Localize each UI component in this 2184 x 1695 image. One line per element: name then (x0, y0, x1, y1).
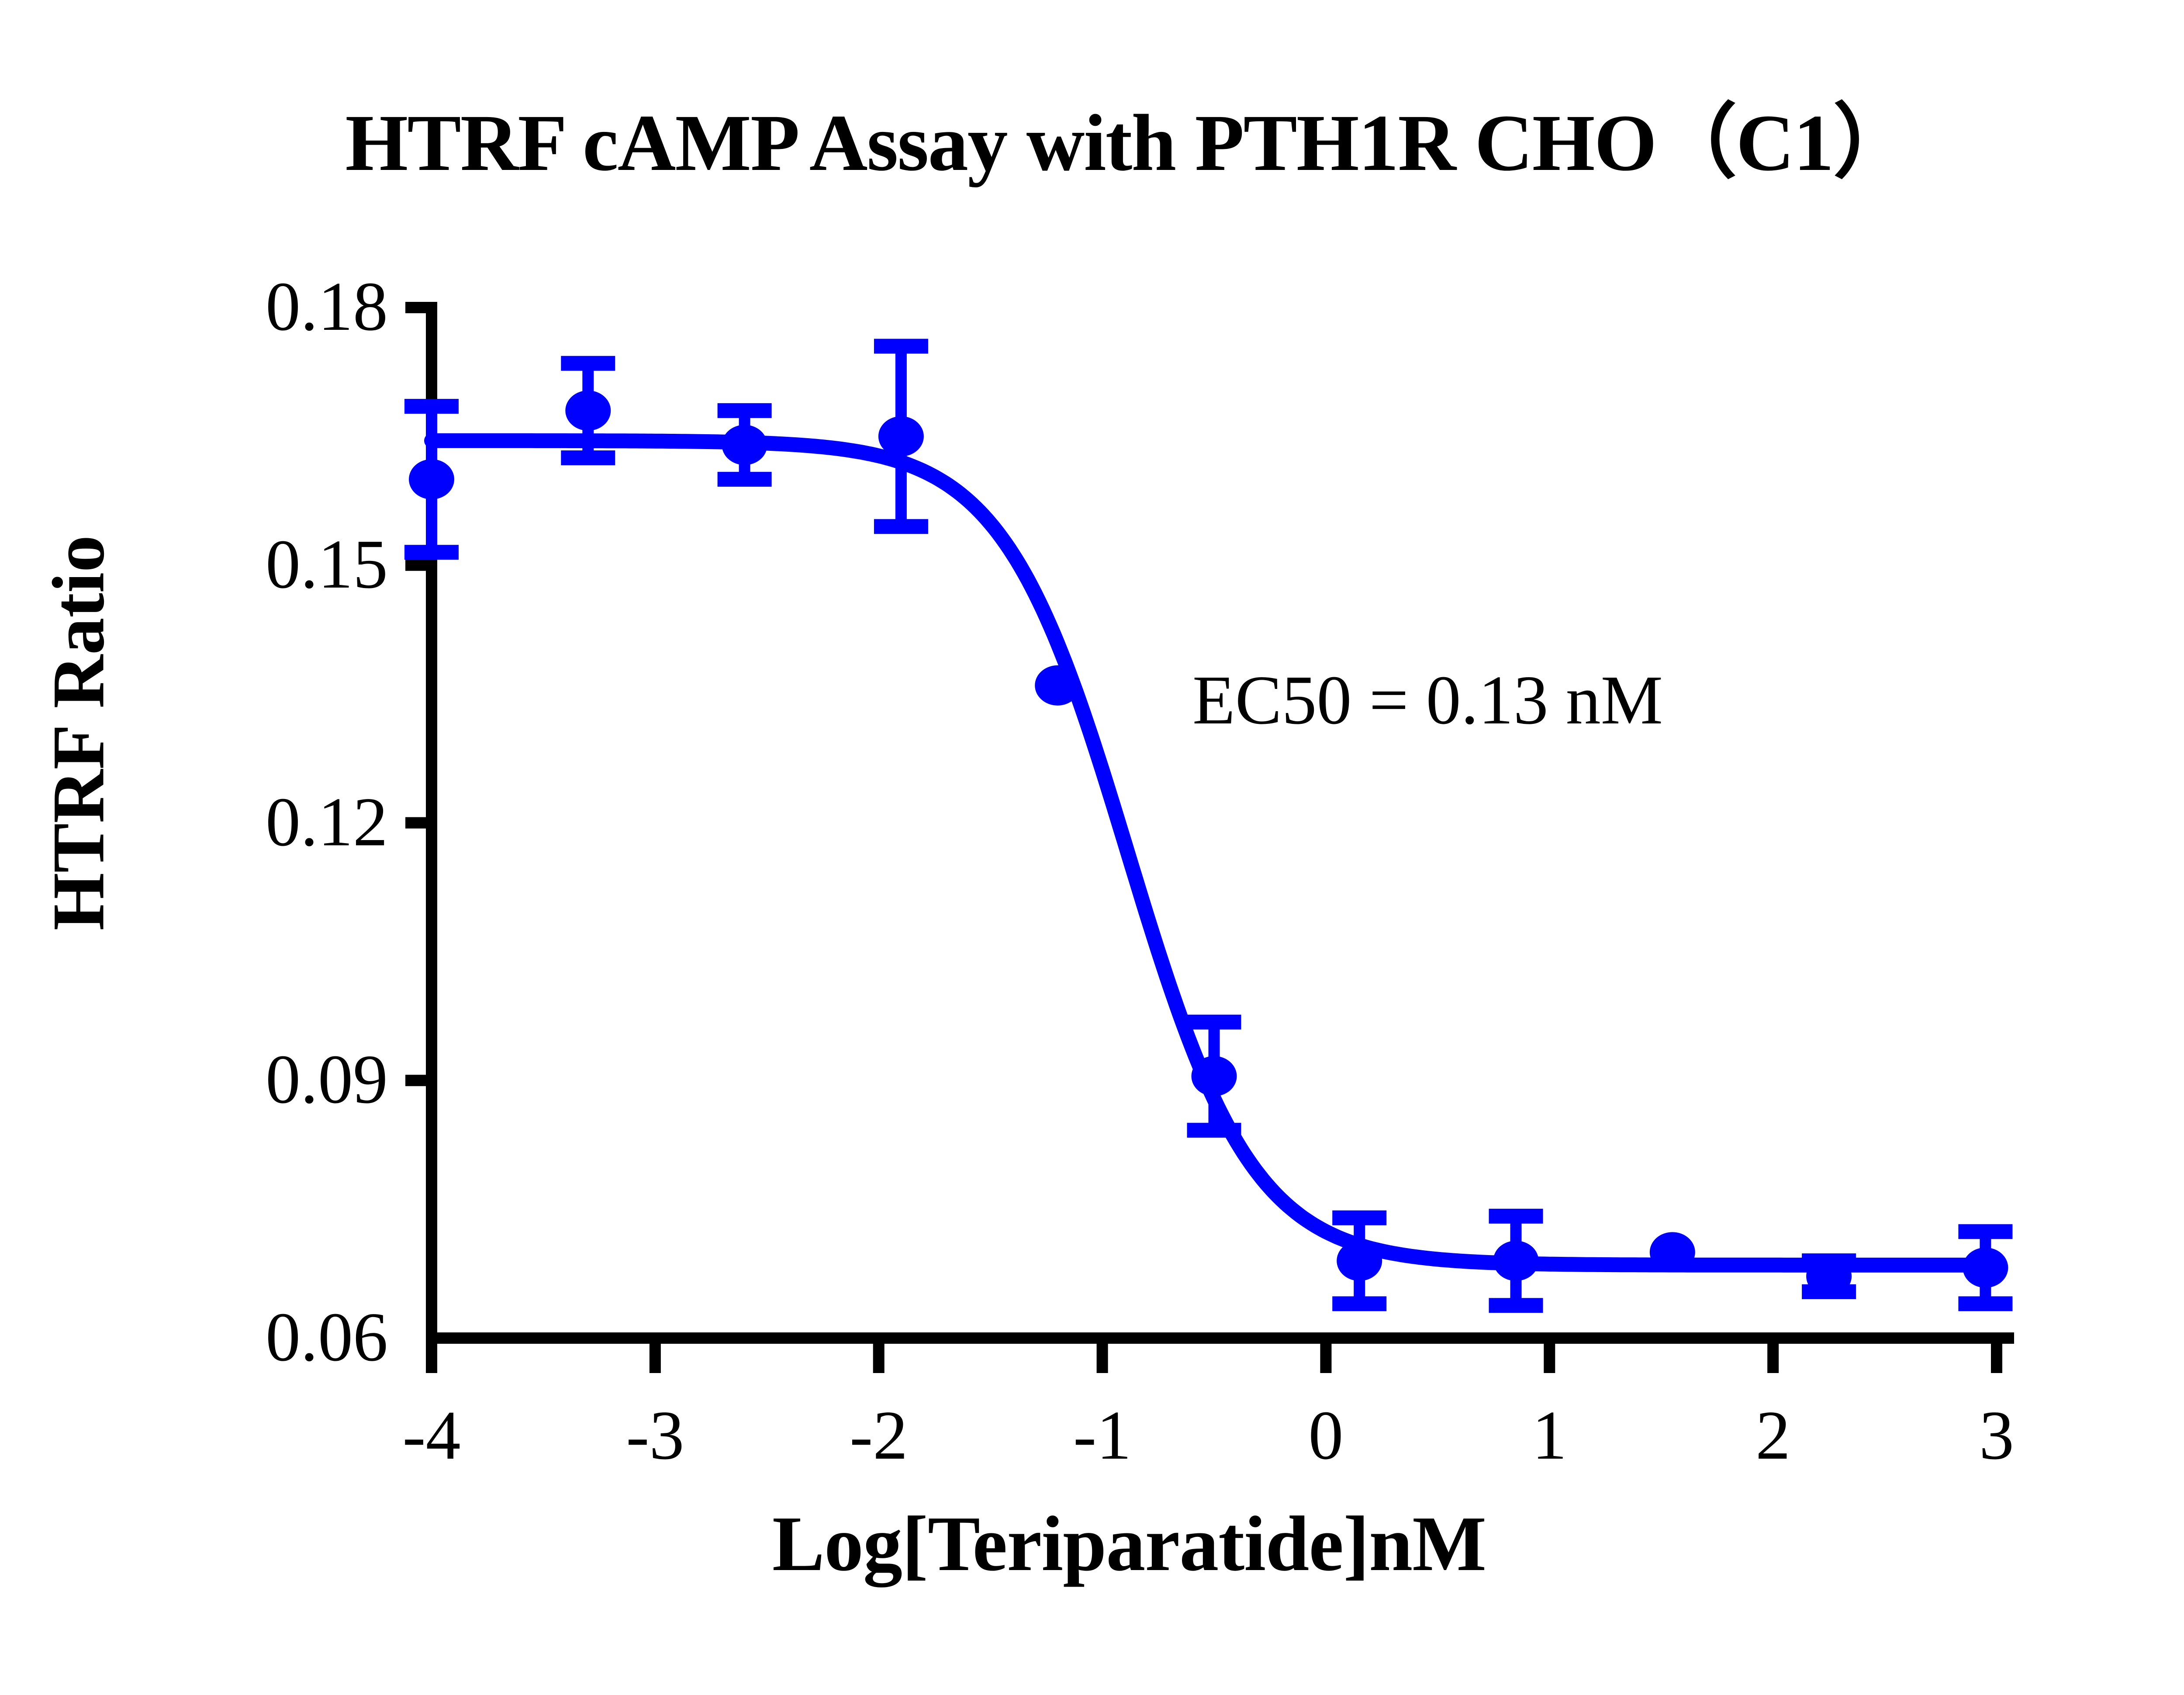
x-tick-label: 1 (1484, 1395, 1615, 1476)
y-tick-label: 0.12 (82, 782, 388, 862)
x-tick-label: -4 (366, 1395, 497, 1476)
data-point-marker (1192, 1056, 1237, 1096)
y-tick-label: 0.06 (82, 1297, 388, 1377)
data-point-marker (1963, 1248, 2008, 1288)
data-point-marker (1337, 1241, 1382, 1281)
error-bars-group (404, 346, 2012, 1305)
chart-figure: HTRF cAMP Assay with PTH1R CHO（C1） HTRF … (0, 0, 2184, 1695)
data-point-marker (1806, 1256, 1852, 1296)
fit-curve (432, 441, 1997, 1265)
data-point-marker (878, 416, 924, 457)
x-tick-label: 0 (1260, 1395, 1391, 1476)
y-tick-label: 0.15 (82, 524, 388, 605)
axes-group (405, 302, 2014, 1373)
data-point-marker (409, 459, 454, 499)
data-point-marker (1035, 665, 1080, 706)
y-tick-label: 0.09 (82, 1039, 388, 1120)
x-tick-label: -1 (1037, 1395, 1168, 1476)
data-point-marker (722, 425, 767, 465)
y-tick-label: 0.18 (82, 266, 388, 347)
x-tick-label: 2 (1707, 1395, 1838, 1476)
x-tick-label: -2 (813, 1395, 944, 1476)
data-point-marker (565, 391, 611, 431)
data-point-marker (1493, 1241, 1539, 1281)
data-point-marker (1650, 1232, 1695, 1272)
x-tick-label: 3 (1931, 1395, 2062, 1476)
fit-curve-group (432, 441, 1997, 1265)
x-tick-label: -3 (590, 1395, 721, 1476)
data-points-group (409, 391, 2008, 1297)
